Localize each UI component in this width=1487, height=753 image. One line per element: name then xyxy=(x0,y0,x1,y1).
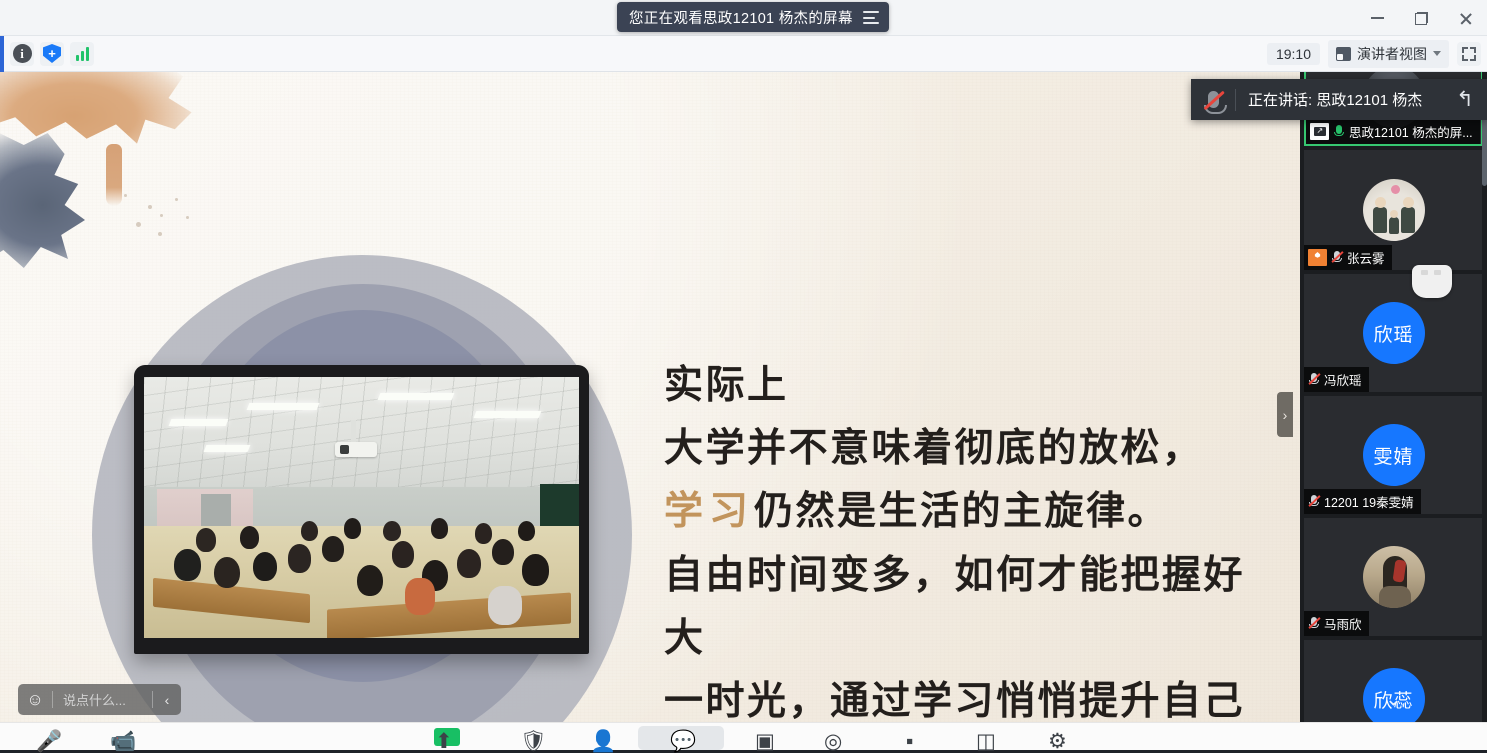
ink-speck xyxy=(124,194,127,197)
layout-icon xyxy=(1336,47,1351,61)
participant-name: 马雨欣 xyxy=(1324,614,1362,633)
back-arrow-icon[interactable]: ↰ xyxy=(1443,87,1487,112)
laptop-mockup xyxy=(134,365,589,660)
chat-input-bar[interactable]: ☺ 说点什么... ‹ xyxy=(18,684,181,715)
rail-scrollbar[interactable] xyxy=(1482,72,1487,750)
mic-on-icon xyxy=(1333,124,1345,139)
minimize-icon xyxy=(1371,17,1384,19)
close-button[interactable] xyxy=(1443,0,1487,36)
mic-muted-icon xyxy=(1308,372,1320,387)
participant-name: 12201 19秦雯婧 xyxy=(1324,492,1414,511)
mic-muted-icon xyxy=(1191,91,1235,108)
security-button[interactable]: + xyxy=(40,42,64,66)
cursor-tooltip xyxy=(1412,265,1452,298)
security-shield-icon: + xyxy=(43,44,61,63)
watching-title: 您正在观看思政12101 杨杰的屏幕 xyxy=(629,7,853,28)
avatar: 雯婧 xyxy=(1363,424,1425,486)
participant-name: 张云雾 xyxy=(1347,248,1385,267)
participant-tile[interactable]: 马雨欣 xyxy=(1304,518,1483,636)
fullscreen-button[interactable] xyxy=(1457,42,1481,66)
slide-line-3-rest: 仍然是生活的主旋律。 xyxy=(754,490,1169,533)
view-mode-selector[interactable]: 演讲者视图 xyxy=(1328,40,1449,68)
active-speaker-label: 正在讲话: 思政12101 杨杰 xyxy=(1236,89,1443,110)
avatar: 欣瑶 xyxy=(1363,302,1425,364)
ink-speck xyxy=(186,216,189,219)
chevron-right-icon: › xyxy=(1283,407,1288,423)
mic-muted-icon xyxy=(1308,616,1320,631)
view-mode-label: 演讲者视图 xyxy=(1357,44,1427,64)
chat-input-placeholder[interactable]: 说点什么... xyxy=(53,690,152,709)
meeting-clock: 19:10 xyxy=(1267,43,1320,65)
slide-line-5: 一时光，通过学习悄悄提升自己呢？ xyxy=(664,670,1284,722)
hamburger-menu-icon[interactable] xyxy=(863,10,881,24)
title-bar: 您正在观看思政12101 杨杰的屏幕 xyxy=(0,0,1487,36)
meeting-info-button[interactable]: i xyxy=(10,42,34,66)
network-signal-icon xyxy=(76,47,89,61)
classroom-photo xyxy=(144,377,579,638)
slide-line-3: 学习仍然是生活的主旋律。 xyxy=(664,480,1284,543)
participant-tile[interactable]: 张云雾 xyxy=(1304,150,1483,270)
ceiling-projector xyxy=(335,442,377,457)
info-icon: i xyxy=(13,44,32,63)
participant-tile[interactable]: 欣瑶 冯欣瑶 xyxy=(1304,274,1483,392)
slide-highlight-word: 学习 xyxy=(664,490,754,533)
minimize-button[interactable] xyxy=(1355,0,1399,36)
chevron-down-icon[interactable]: ⌄ xyxy=(1385,687,1402,712)
emoji-smiley-icon[interactable]: ☺ xyxy=(18,690,52,710)
close-icon xyxy=(1459,12,1472,25)
fullscreen-expand-icon xyxy=(1462,47,1476,61)
participant-name: 思政12101 杨杰的屏... xyxy=(1349,122,1473,141)
ink-speck xyxy=(175,198,178,201)
slide-line-4: 自由时间变多，如何才能把握好大 xyxy=(664,544,1284,670)
ink-speck xyxy=(148,205,152,209)
tile-namebar: 张云雾 xyxy=(1304,245,1392,270)
slide-text-block: 实际上 大学并不意味着彻底的放松， 学习仍然是生活的主旋律。 自由时间变多，如何… xyxy=(664,354,1284,722)
screen-share-icon xyxy=(1310,123,1329,140)
meeting-controls-bar: 🎤 📹 ⬆ 🛡 👤 💬 ▣ ◎ ▪ ◫ ⚙ xyxy=(0,722,1487,750)
laptop-lid xyxy=(134,365,589,654)
tile-namebar: 马雨欣 xyxy=(1304,611,1369,636)
active-speaker-banner[interactable]: 正在讲话: 思政12101 杨杰 ↰ xyxy=(1191,79,1487,120)
shared-screen-stage[interactable]: 实际上 大学并不意味着彻底的放松， 学习仍然是生活的主旋律。 自由时间变多，如何… xyxy=(0,72,1300,722)
chevron-left-icon[interactable]: ‹ xyxy=(153,692,181,708)
app-toolbar: i + 19:10 演讲者视图 xyxy=(0,36,1487,72)
sidebar-collapse-handle[interactable]: › xyxy=(1277,392,1293,437)
participant-rail[interactable]: 思政12101 杨杰的屏... 张云雾 欣瑶 冯 xyxy=(1300,72,1487,750)
restore-icon xyxy=(1415,12,1428,25)
ink-speck xyxy=(160,214,163,217)
toolbar-right-group: 19:10 演讲者视图 xyxy=(1267,40,1487,68)
watercolor-drip-icon xyxy=(106,144,122,206)
mic-muted-icon xyxy=(1308,494,1320,509)
host-badge-icon xyxy=(1308,249,1327,266)
watching-indicator[interactable]: 您正在观看思政12101 杨杰的屏幕 xyxy=(617,2,889,32)
slide-line-2: 大学并不意味着彻底的放松， xyxy=(664,417,1284,480)
slide-line-1: 实际上 xyxy=(664,354,1284,417)
avatar xyxy=(1363,179,1425,241)
ink-speck xyxy=(136,222,141,227)
tile-namebar: 冯欣瑶 xyxy=(1304,367,1369,392)
avatar xyxy=(1363,546,1425,608)
tile-namebar: 12201 19秦雯婧 xyxy=(1304,489,1421,514)
window-controls xyxy=(1355,0,1487,36)
participant-tile[interactable]: 雯婧 12201 19秦雯婧 xyxy=(1304,396,1483,514)
tile-namebar: 思政12101 杨杰的屏... xyxy=(1306,119,1480,144)
participant-name: 冯欣瑶 xyxy=(1324,370,1362,389)
chevron-down-icon xyxy=(1433,51,1441,56)
toolbar-left-group: i + xyxy=(0,42,94,66)
network-status-button[interactable] xyxy=(70,42,94,66)
ceiling xyxy=(144,377,579,492)
mic-muted-icon xyxy=(1331,250,1343,265)
restore-button[interactable] xyxy=(1399,0,1443,36)
ink-speck xyxy=(158,232,162,236)
